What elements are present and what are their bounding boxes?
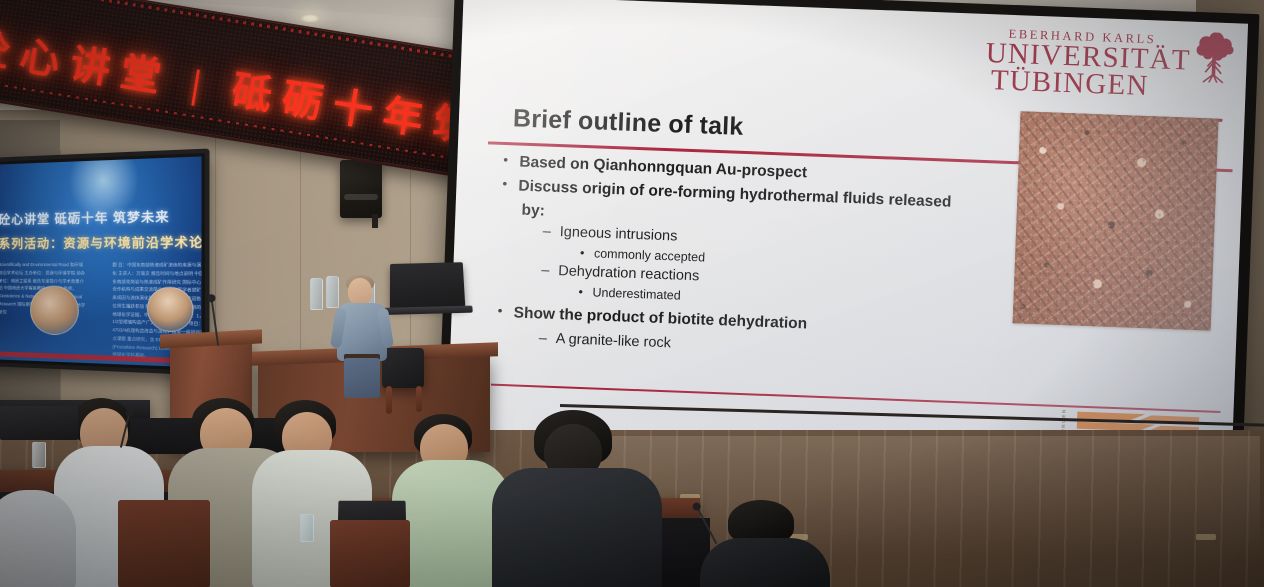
audience-laptop [0,406,78,440]
bullet-dash-icon: – [538,329,556,348]
slide-bullet-list: •Based on Qianhonngquan Au-prospect •Dis… [492,152,1059,369]
tree-emblem-icon [1190,32,1238,86]
ceiling-light [300,14,320,23]
presenter-laptop [390,262,465,309]
granite-rock-photo [1013,111,1219,330]
audience-chair-back [330,520,410,587]
audience-torso [700,538,830,587]
bullet-text: Dehydration reactions [558,262,700,286]
audience-member [492,410,662,587]
monitor-title: 砼心讲堂 砥砺十年 筑梦未来 [0,207,197,229]
audience-member [0,470,76,587]
university-logo: EBERHARD KARLS UNIVERSITÄT TÜBINGEN [984,28,1191,101]
bullet-dash-icon: – [541,261,559,280]
bullet-text: Underestimated [592,284,681,304]
water-bottle [310,278,323,310]
presentation-slide: EBERHARD KARLS UNIVERSITÄT TÜBINGEN Brie… [447,0,1248,471]
stage-chair-frame [416,386,422,412]
bullet-dot-icon: • [503,152,520,169]
slide-title: Brief outline of talk [512,104,744,142]
presenter [336,278,388,396]
water-glass [32,442,46,468]
stage-chair [382,348,424,388]
lecture-hall-scene: 砼心讲堂 | 砥砺十年筑梦未来校庆系列 砼心讲堂 砥砺十年 筑梦未来 系列活动：… [0,0,1264,587]
bullet-dot-icon: • [580,245,595,262]
audience-torso [492,468,662,587]
presenter-head [348,278,372,306]
bullet-dot-icon: • [502,176,519,193]
wall-loudspeaker [340,160,382,218]
bullet-text: A granite-like rock [555,330,671,353]
monitor-subtitle: 系列活动：资源与环境前沿学术论坛 [0,233,197,252]
water-glass [300,514,314,542]
bullet-text: Igneous intrusions [559,223,677,246]
loudspeaker-mount [372,214,378,228]
presenter-legs [344,358,380,398]
bullet-text: commonly accepted [594,245,706,265]
rock-grain-texture [1013,111,1219,330]
audience-chair-back [118,500,210,587]
audience-member [700,500,830,587]
bullet-dot-icon: • [497,303,514,320]
bullet-dot-icon: • [578,284,593,301]
audience-torso [0,490,76,587]
floor-marker [1196,534,1216,540]
bullet-dash-icon: – [542,222,560,241]
